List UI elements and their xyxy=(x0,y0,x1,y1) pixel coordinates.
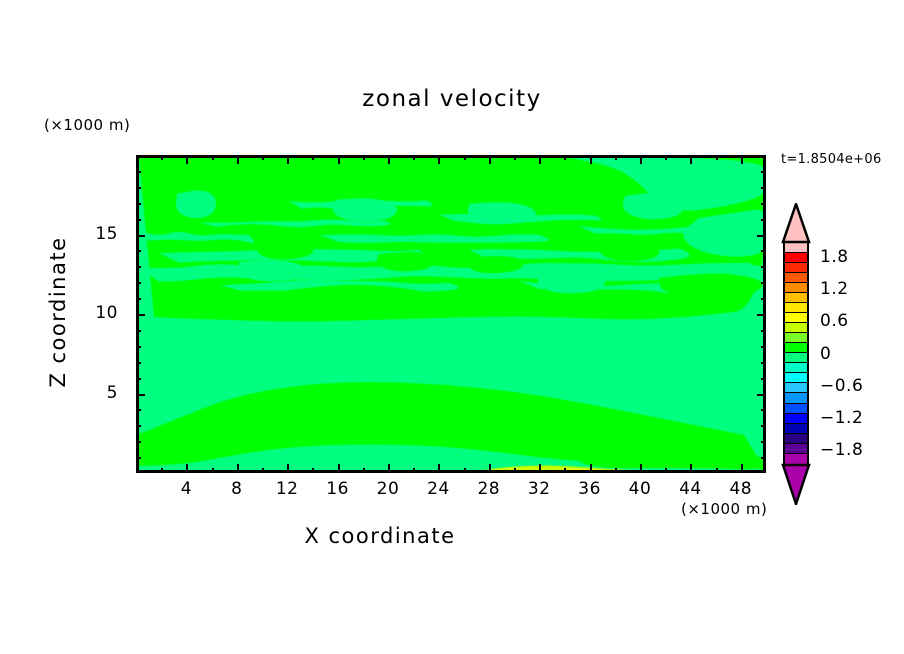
y-tick-label-5: 5 xyxy=(72,383,118,403)
colorbar-band-11 xyxy=(785,353,807,363)
x-tick-label-16: 16 xyxy=(315,479,361,499)
x-tick-label-48: 48 xyxy=(718,479,764,499)
colorbar-label-4: −0.6 xyxy=(820,376,863,396)
x-tick-label-36: 36 xyxy=(567,479,613,499)
x-tick-label-40: 40 xyxy=(617,479,663,499)
colorbar-band-19 xyxy=(785,434,807,444)
colorbar-label-5: −1.2 xyxy=(820,408,863,428)
colorbar-label-1: 1.2 xyxy=(820,279,849,299)
x-tick-label-44: 44 xyxy=(667,479,713,499)
colorbar-band-14 xyxy=(785,383,807,393)
x-tick-label-12: 12 xyxy=(264,479,310,499)
x-tick-label-8: 8 xyxy=(214,479,260,499)
y-axis-unit-label: (×1000 m) xyxy=(44,116,130,134)
contour-plot-area xyxy=(136,155,766,473)
colorbar-band-4 xyxy=(785,283,807,293)
colorbar-band-9 xyxy=(785,333,807,343)
colorbar-band-12 xyxy=(785,363,807,373)
colorbar-band-13 xyxy=(785,373,807,383)
colorbar-band-5 xyxy=(785,293,807,303)
colorbar-band-20 xyxy=(785,444,807,454)
colorbar-extend-bottom-icon xyxy=(783,465,809,504)
colorbar-label-0: 1.8 xyxy=(820,247,849,267)
colorbar-band-15 xyxy=(785,393,807,403)
colorbar-band-8 xyxy=(785,323,807,333)
colorbar-band-6 xyxy=(785,303,807,313)
y-tick-label-10: 10 xyxy=(72,303,118,323)
colorbar-extend-top-icon xyxy=(783,203,809,242)
colorbar-band-2 xyxy=(785,263,807,273)
contour-field xyxy=(139,158,766,473)
colorbar-label-3: 0 xyxy=(820,344,831,364)
colorbar-band-7 xyxy=(785,313,807,323)
colorbar-band-0 xyxy=(785,243,807,253)
colorbar-band-16 xyxy=(785,404,807,414)
colorbar-band-3 xyxy=(785,273,807,283)
x-tick-label-4: 4 xyxy=(163,479,209,499)
colorbar-band-21 xyxy=(785,454,807,464)
colorbar xyxy=(778,203,818,503)
x-axis-title: X coordinate xyxy=(0,524,760,548)
y-axis-title: Z coordinate xyxy=(46,202,70,422)
page-title: zonal velocity xyxy=(0,86,904,112)
x-tick-label-32: 32 xyxy=(516,479,562,499)
time-stamp-annotation: t=1.8504e+06 xyxy=(781,152,882,167)
colorbar-band-18 xyxy=(785,424,807,434)
colorbar-bands xyxy=(783,241,809,466)
colorbar-band-17 xyxy=(785,414,807,424)
y-tick-label-15: 15 xyxy=(72,224,118,244)
x-tick-label-24: 24 xyxy=(415,479,461,499)
x-tick-label-20: 20 xyxy=(365,479,411,499)
colorbar-band-10 xyxy=(785,343,807,353)
colorbar-band-1 xyxy=(785,253,807,263)
colorbar-label-2: 0.6 xyxy=(820,311,849,331)
x-tick-label-28: 28 xyxy=(466,479,512,499)
x-axis-unit-label: (×1000 m) xyxy=(681,500,767,518)
colorbar-label-6: −1.8 xyxy=(820,440,863,460)
